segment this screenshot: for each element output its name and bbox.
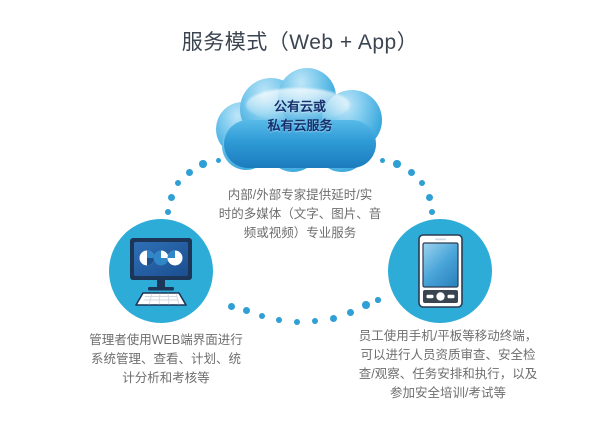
connector-dot <box>347 309 354 316</box>
desktop-computer-icon <box>126 238 196 306</box>
web-node-caption: 管理者使用WEB端界面进行 系统管理、查看、计划、统 计分析和考核等 <box>46 331 286 388</box>
cloud-label: 公有云或 私有云服务 <box>216 97 384 135</box>
smartphone-icon <box>418 234 463 308</box>
connector-dot <box>294 319 301 326</box>
connector-dot <box>375 297 381 303</box>
connector-dot <box>312 318 319 325</box>
connector-dot <box>228 303 235 310</box>
connector-dot <box>259 313 266 320</box>
diagram-canvas: 服务模式（Web + App） 公有云或 私有云服务 内部/外部专家提供延时/实… <box>0 0 600 445</box>
connector-dot <box>330 315 337 322</box>
connector-dot <box>243 307 250 314</box>
connector-dot <box>362 301 370 309</box>
center-note-text: 内部/外部专家提供延时/实 时的多媒体（文字、图片、音 频或视频）专业服务 <box>190 186 410 243</box>
cloud-node[interactable]: 公有云或 私有云服务 <box>216 68 384 174</box>
app-node-caption: 员工使用手机/平板等移动终端， 可以进行人员资质审查、安全检 查/观察、任务安排… <box>320 327 576 403</box>
connector-dot <box>276 317 283 324</box>
